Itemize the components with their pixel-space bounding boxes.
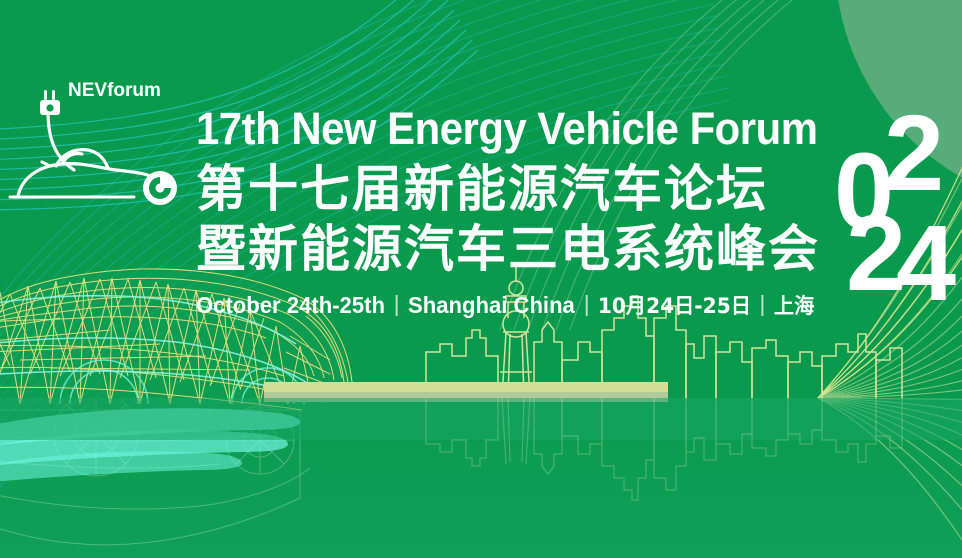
date-chinese: 10月24日-25日 bbox=[598, 290, 751, 320]
charging-plug-icon bbox=[40, 90, 60, 115]
title-chinese-line2: 暨新能源汽车三电系统峰会 bbox=[196, 220, 844, 278]
date-location-line: October 24th-25th Shanghai China 10月24日-… bbox=[196, 290, 818, 320]
city-english: Shanghai China bbox=[408, 292, 575, 319]
title-english: 17th New Energy Vehicle Forum bbox=[196, 104, 799, 154]
separator-3 bbox=[761, 295, 763, 316]
year-2024-graphic: 2 0 2 4 bbox=[838, 104, 962, 300]
poster-text-block: 17th New Energy Vehicle Forum 第十七届新能源汽车论… bbox=[196, 104, 844, 320]
poster-canvas: NEVforum 2 0 2 4 17th New Energy Vehicle… bbox=[0, 0, 962, 558]
city-chinese: 上海 bbox=[774, 290, 814, 320]
date-english: October 24th-25th bbox=[196, 292, 385, 319]
charging-port-icon bbox=[143, 171, 177, 205]
water-band bbox=[0, 398, 962, 440]
year-digit-4: 4 bbox=[896, 202, 956, 300]
separator-2 bbox=[585, 295, 587, 316]
title-chinese-line1: 第十七届新能源汽车论坛 bbox=[196, 160, 844, 218]
logo-wordmark: NEVforum bbox=[68, 80, 161, 102]
logo-nev-text: NEV bbox=[68, 80, 107, 101]
plug-cord bbox=[48, 112, 74, 170]
logo-forum-text: forum bbox=[107, 80, 161, 101]
separator-1 bbox=[396, 295, 398, 316]
